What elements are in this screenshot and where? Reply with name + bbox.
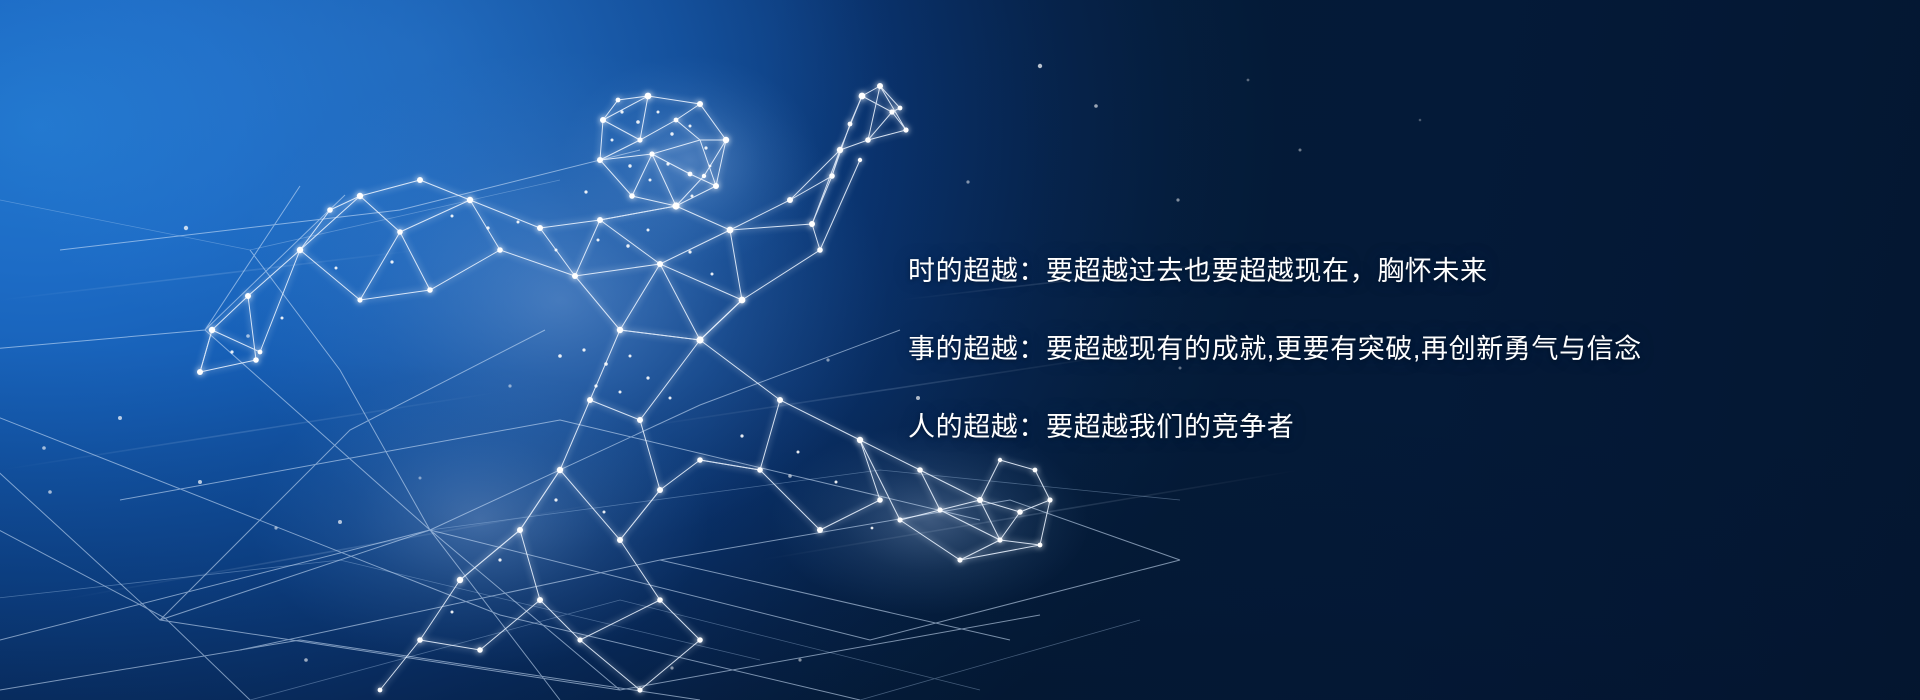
slogan-block: 时的超越：要超越过去也要超越现在，胸怀未来 事的超越：要超越现有的成就,更要有突… — [908, 232, 1868, 466]
slogan-line-time: 时的超越：要超越过去也要超越现在，胸怀未来 — [908, 232, 1868, 310]
hero-banner: 时的超越：要超越过去也要超越现在，胸怀未来 事的超越：要超越现有的成就,更要有突… — [0, 0, 1920, 700]
slogan-line-people: 人的超越：要超越我们的竞争者 — [908, 388, 1868, 466]
slogan-line-matter: 事的超越：要超越现有的成就,更要有突破,再创新勇气与信念 — [908, 310, 1868, 388]
